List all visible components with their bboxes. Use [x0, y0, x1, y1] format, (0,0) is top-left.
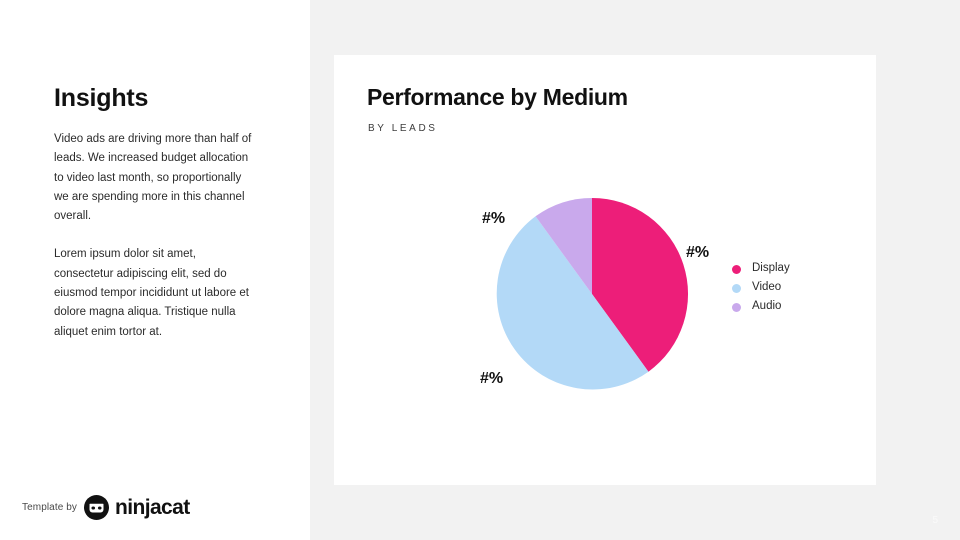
chart-title: Performance by Medium — [367, 84, 628, 111]
pie-slice-label-audio: #% — [482, 210, 505, 228]
footer-brand: Template by ninjacat — [22, 495, 190, 520]
slide-canvas: Insights Video ads are driving more than… — [0, 0, 960, 540]
chart-legend: Display Video Audio — [732, 260, 790, 317]
legend-swatch-icon — [732, 303, 741, 312]
pie-chart — [494, 196, 690, 392]
legend-item-audio[interactable]: Audio — [732, 298, 790, 316]
ninjacat-mask-icon — [84, 495, 109, 520]
legend-item-display[interactable]: Display — [732, 260, 790, 278]
insights-paragraph: Lorem ipsum dolor sit amet, consectetur … — [54, 245, 254, 341]
chart-card: Performance by Medium BY LEADS #% #% #% … — [334, 55, 876, 485]
template-by-label: Template by — [22, 502, 77, 513]
legend-label: Display — [752, 263, 790, 275]
legend-swatch-icon — [732, 284, 741, 293]
pie-chart-svg — [494, 196, 690, 392]
legend-label: Video — [752, 282, 781, 294]
insights-body: Video ads are driving more than half of … — [54, 130, 254, 342]
ninjacat-logo[interactable]: ninjacat — [84, 495, 190, 520]
ninjacat-wordmark: ninjacat — [115, 497, 190, 518]
page-number: 5 — [932, 515, 938, 526]
page-title: Insights — [54, 84, 148, 113]
insights-panel: Insights Video ads are driving more than… — [0, 0, 310, 540]
pie-slice-label-video: #% — [480, 370, 503, 388]
chart-subtitle: BY LEADS — [368, 123, 438, 134]
pie-slice-label-display: #% — [686, 244, 709, 262]
legend-item-video[interactable]: Video — [732, 279, 790, 297]
legend-swatch-icon — [732, 265, 741, 274]
legend-label: Audio — [752, 301, 781, 313]
insights-paragraph: Video ads are driving more than half of … — [54, 130, 254, 226]
